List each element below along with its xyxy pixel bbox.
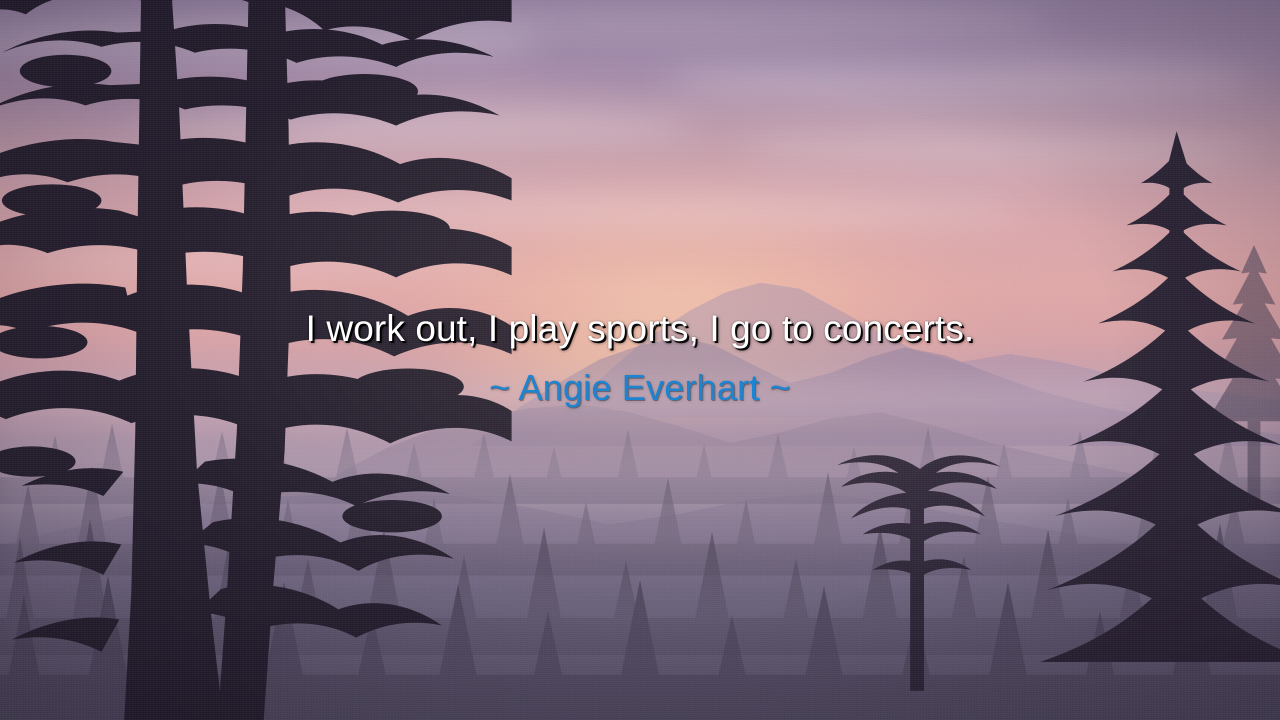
tree-silhouette-mid-right <box>794 374 1050 691</box>
wallpaper-canvas: I work out, I play sports, I go to conce… <box>0 0 1280 720</box>
cloud-wisp-3 <box>666 58 1255 101</box>
tree-silhouette-left <box>0 0 512 720</box>
background-scene <box>0 0 1280 720</box>
tree-silhouette-right <box>1024 101 1280 663</box>
